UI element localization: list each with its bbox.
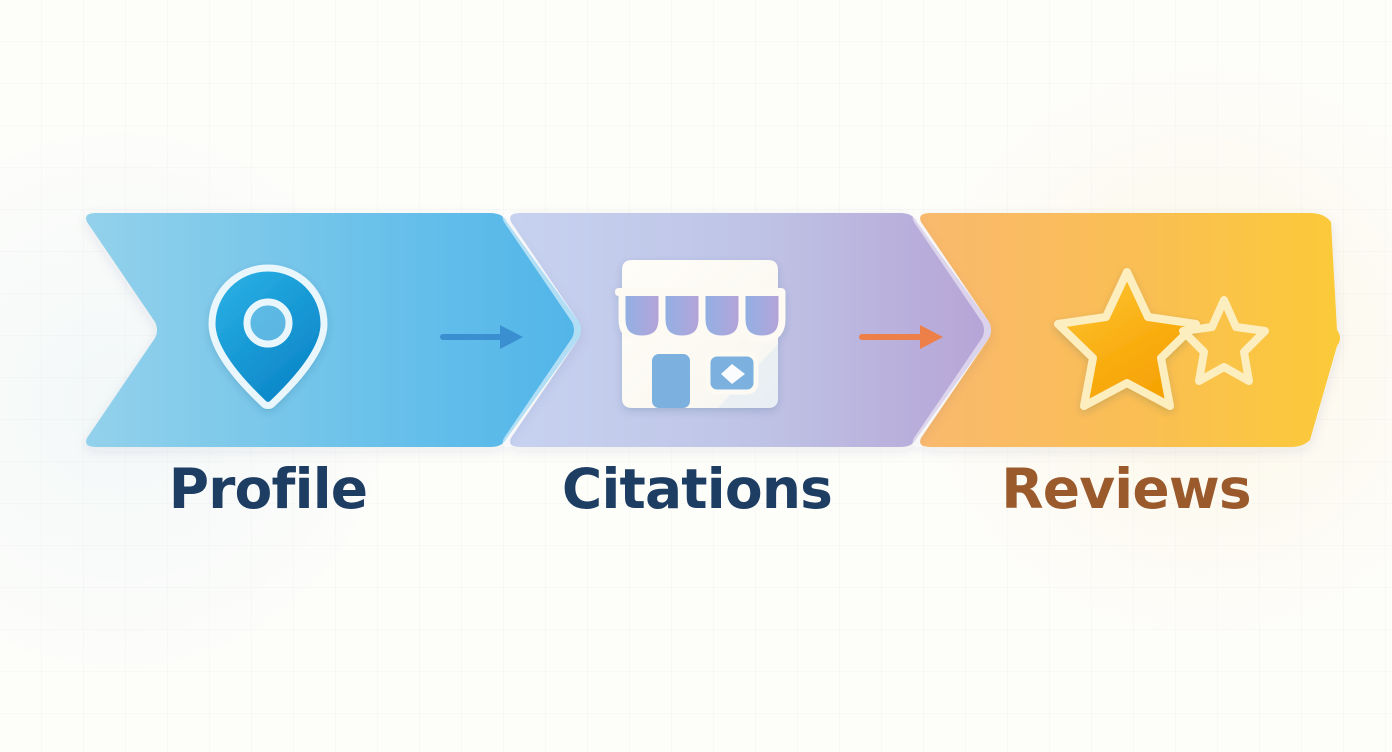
step-label-citations: Citations [487, 462, 907, 517]
step-label-profile: Profile [58, 462, 478, 517]
process-flow-diagram: Profile Citations Reviews [0, 0, 1392, 752]
step-label-reviews: Reviews [916, 462, 1336, 517]
chevron-band [0, 0, 1392, 752]
storefront-icon [615, 260, 785, 408]
